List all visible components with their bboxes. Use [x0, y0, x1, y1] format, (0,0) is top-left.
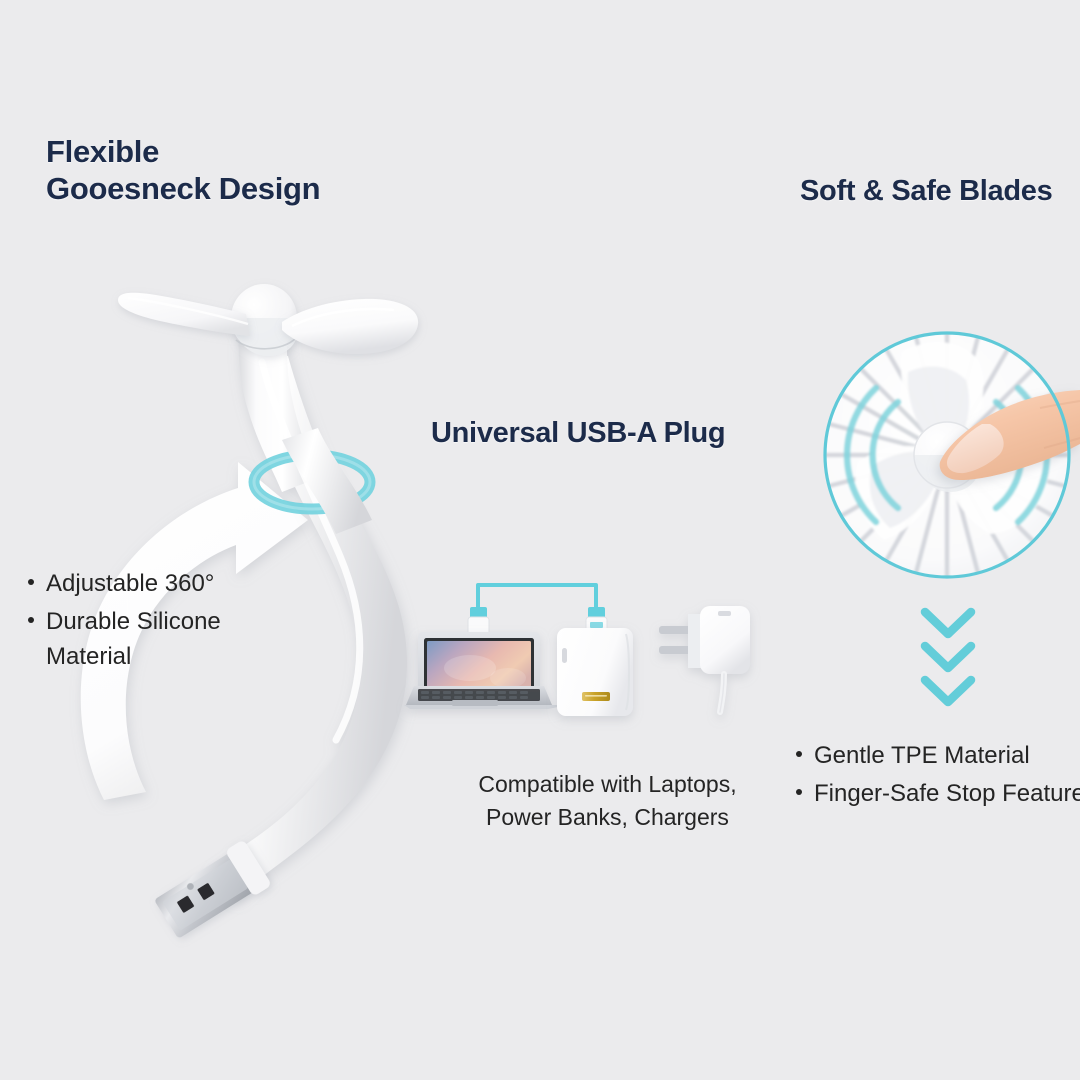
left-feature-list: Adjustable 360° Durable Silicone Materia… — [24, 566, 221, 677]
list-item-label: Gentle TPE Material — [814, 742, 1030, 769]
fan-blade-right — [282, 299, 418, 354]
circle-outline — [825, 333, 1069, 577]
right-feature-list: Gentle TPE Material Finger-Safe Stop Fea… — [792, 738, 1080, 813]
list-item: Adjustable 360° — [24, 566, 221, 602]
device-power-bank — [557, 628, 633, 716]
left-heading-line1: Flexible — [46, 134, 159, 169]
device-wall-charger — [659, 606, 750, 712]
list-item: Gentle TPE Material — [792, 738, 1080, 774]
fan-blades — [825, 333, 1069, 577]
stem-front-overlap — [282, 428, 372, 534]
gooseneck-stem — [208, 330, 407, 900]
usb-connection-cable — [468, 585, 607, 645]
list-item: Finger-Safe Stop Feature — [792, 776, 1080, 812]
device-laptop — [404, 632, 566, 709]
chevron-down-icon — [925, 680, 971, 702]
left-heading-line2: Gooesneck Design — [46, 170, 320, 207]
fan-hub — [914, 422, 980, 492]
chevron-down-icon — [925, 612, 971, 634]
fan-hub — [231, 284, 298, 356]
center-caption-line1: Compatible with Laptops, — [440, 768, 775, 801]
usb-a-connector — [152, 839, 272, 942]
right-heading: Soft & Safe Blades — [800, 174, 1052, 209]
list-item: Durable Silicone Material — [24, 604, 221, 675]
chevron-down-icon — [925, 646, 971, 668]
left-heading: Flexible Gooesneck Design — [46, 133, 320, 207]
rotation-ring — [254, 455, 370, 509]
finger — [940, 390, 1080, 480]
center-heading: Universal USB-A Plug — [431, 416, 725, 451]
list-item-label: Finger-Safe Stop Feature — [814, 780, 1080, 807]
center-caption: Compatible with Laptops, Power Banks, Ch… — [440, 768, 775, 833]
list-item-label: Durable Silicone — [46, 608, 221, 635]
infographic-canvas: Flexible Gooesneck Design Universal USB-… — [0, 0, 1080, 1080]
chevron-down-group — [925, 612, 971, 702]
center-caption-line2: Power Banks, Chargers — [440, 801, 775, 834]
fan-blade-left — [118, 293, 250, 336]
list-item-label-wrap: Material — [46, 639, 221, 675]
list-item-label: Adjustable 360° — [46, 570, 214, 597]
